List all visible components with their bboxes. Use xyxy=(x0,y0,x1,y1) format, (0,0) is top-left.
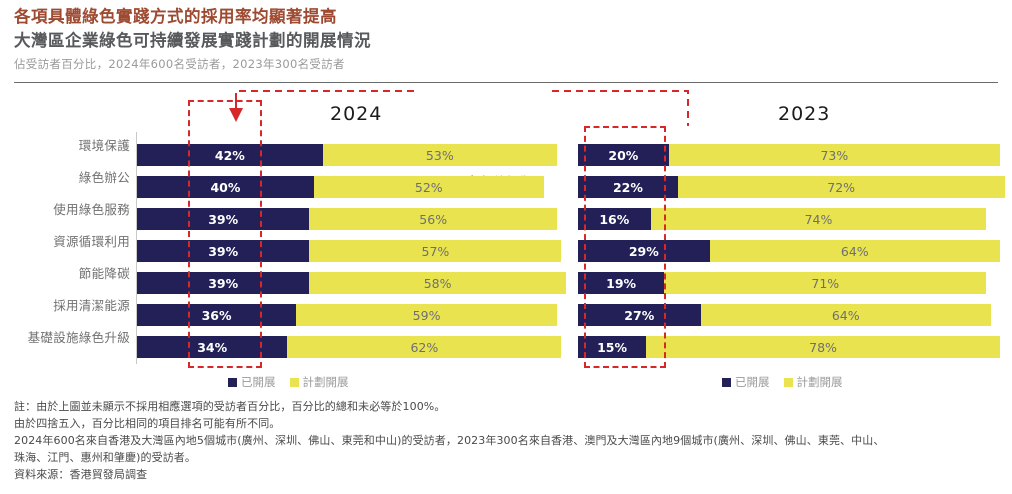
bar-value-plan: 71% xyxy=(811,276,839,291)
bar-row: 16%74% xyxy=(578,208,986,230)
bar-value-done: 19% xyxy=(606,276,636,291)
bar-value-plan: 62% xyxy=(410,340,438,355)
category-label: 綠色辦公 xyxy=(0,167,130,186)
bar-row: 34%62% xyxy=(137,336,561,358)
bar-value-plan: 64% xyxy=(841,244,869,259)
header: 各項具體綠色實踐方式的採用率均顯著提高 大灣區企業綠色可持續發展實踐計劃的開展情… xyxy=(14,6,998,72)
bar-segment-plan: 57% xyxy=(309,240,561,262)
bar-row: 20%73% xyxy=(578,144,1000,166)
bar-row: 36%59% xyxy=(137,304,557,326)
bar-segment-done: 15% xyxy=(578,336,646,358)
bar-value-done: 36% xyxy=(202,308,232,323)
bar-segment-done: 19% xyxy=(578,272,664,294)
bar-value-done: 34% xyxy=(197,340,227,355)
bar-row: 39%58% xyxy=(137,272,566,294)
year-heading-2023: 2023 xyxy=(778,103,830,125)
bar-row: 39%57% xyxy=(137,240,561,262)
legend-label-done: 已開展 xyxy=(241,374,276,390)
legend-label-plan: 計劃開展 xyxy=(797,374,843,390)
bar-segment-plan: 56% xyxy=(309,208,557,230)
legend-swatch-plan-icon xyxy=(784,378,793,387)
bar-segment-done: 39% xyxy=(137,208,309,230)
bar-value-plan: 64% xyxy=(832,308,860,323)
chart-body: 環境保護綠色辦公使用綠色服務資源循環利用節能降碳採用清潔能源基礎設施綠色升級 4… xyxy=(0,132,1012,370)
bar-segment-done: 22% xyxy=(578,176,678,198)
bar-row: 40%52% xyxy=(137,176,544,198)
bar-value-done: 42% xyxy=(215,148,245,163)
legend-2024: 已開展 計劃開展 xyxy=(228,374,349,390)
bar-value-plan: 53% xyxy=(426,148,454,163)
bar-value-done: 15% xyxy=(597,340,627,355)
bar-row: 27%64% xyxy=(578,304,991,326)
footnote-line: 2024年600名來自香港及大灣區內地5個城市(廣州、深圳、佛山、東莞和中山)的… xyxy=(14,432,1004,449)
bar-row: 42%53% xyxy=(137,144,557,166)
bar-segment-plan: 78% xyxy=(646,336,1000,358)
bar-segment-plan: 64% xyxy=(710,240,1000,262)
bar-value-done: 39% xyxy=(208,244,238,259)
bar-row: 22%72% xyxy=(578,176,1005,198)
footnote-line: 資料來源：香港貿發局調查 xyxy=(14,466,1004,483)
bar-value-plan: 72% xyxy=(827,180,855,195)
bar-segment-plan: 74% xyxy=(651,208,987,230)
legend-swatch-plan-icon xyxy=(290,378,299,387)
bar-row: 19%71% xyxy=(578,272,986,294)
bar-segment-done: 27% xyxy=(578,304,701,326)
bar-segment-done: 36% xyxy=(137,304,296,326)
legend-swatch-done-icon xyxy=(228,378,237,387)
bar-segment-plan: 64% xyxy=(701,304,991,326)
footnote-line: 珠海、江門、惠州和肇慶)的受訪者。 xyxy=(14,449,1004,466)
sample-note: 佔受訪者百分比，2024年600名受訪者，2023年300名受訪者 xyxy=(14,56,998,72)
bar-value-done: 39% xyxy=(208,276,238,291)
bar-segment-plan: 72% xyxy=(678,176,1005,198)
bar-segment-done: 42% xyxy=(137,144,323,166)
bar-segment-plan: 73% xyxy=(669,144,1000,166)
bar-value-done: 29% xyxy=(629,244,659,259)
category-label: 基礎設施綠色升級 xyxy=(0,327,130,346)
legend-item-plan: 計劃開展 xyxy=(784,374,843,390)
bar-value-plan: 73% xyxy=(820,148,848,163)
bar-value-plan: 59% xyxy=(413,308,441,323)
chart-page: 各項具體綠色實踐方式的採用率均顯著提高 大灣區企業綠色可持續發展實踐計劃的開展情… xyxy=(0,0,1012,494)
year-heading-2024: 2024 xyxy=(330,103,382,125)
bar-segment-done: 40% xyxy=(137,176,314,198)
bar-value-done: 20% xyxy=(608,148,638,163)
annotation-connector-svg xyxy=(0,86,1012,132)
page-subtitle: 大灣區企業綠色可持續發展實踐計劃的開展情況 xyxy=(14,30,998,52)
bar-value-plan: 58% xyxy=(424,276,452,291)
page-title: 各項具體綠色實踐方式的採用率均顯著提高 xyxy=(14,6,998,28)
bar-segment-plan: 59% xyxy=(296,304,557,326)
bar-value-plan: 74% xyxy=(805,212,833,227)
footnote-line: 註：由於上圖並未顯示不採用相應選項的受訪者百分比，百分比的總和未必等於100%。 xyxy=(14,398,1004,415)
legend-swatch-done-icon xyxy=(722,378,731,387)
bar-segment-done: 39% xyxy=(137,272,309,294)
category-label: 節能降碳 xyxy=(0,263,130,282)
category-label: 資源循環利用 xyxy=(0,231,130,250)
legend-item-done: 已開展 xyxy=(722,374,770,390)
bar-segment-plan: 62% xyxy=(287,336,561,358)
bar-segment-plan: 52% xyxy=(314,176,544,198)
bar-segment-done: 39% xyxy=(137,240,309,262)
bar-value-done: 40% xyxy=(210,180,240,195)
bar-row: 15%78% xyxy=(578,336,1000,358)
legend-item-done: 已開展 xyxy=(228,374,276,390)
footnotes: 註：由於上圖並未顯示不採用相應選項的受訪者百分比，百分比的總和未必等於100%。… xyxy=(14,398,1004,483)
bar-value-plan: 78% xyxy=(809,340,837,355)
bar-value-plan: 56% xyxy=(419,212,447,227)
bar-value-done: 16% xyxy=(599,212,629,227)
bar-value-plan: 57% xyxy=(422,244,450,259)
category-label: 環境保護 xyxy=(0,135,130,154)
footnote-line: 由於四捨五入，百分比相同的項目排名可能有所不同。 xyxy=(14,415,1004,432)
bar-segment-done: 16% xyxy=(578,208,651,230)
category-label: 採用清潔能源 xyxy=(0,295,130,314)
legend-2023: 已開展 計劃開展 xyxy=(722,374,843,390)
category-label: 使用綠色服務 xyxy=(0,199,130,218)
bar-segment-plan: 71% xyxy=(664,272,986,294)
bar-value-done: 27% xyxy=(624,308,654,323)
bar-value-done: 39% xyxy=(208,212,238,227)
bar-segment-done: 29% xyxy=(578,240,710,262)
annotation-layer: 開展率有所上升 xyxy=(0,86,1012,126)
legend-item-plan: 計劃開展 xyxy=(290,374,349,390)
bar-segment-done: 20% xyxy=(578,144,669,166)
header-divider xyxy=(14,82,998,83)
bar-segment-plan: 53% xyxy=(323,144,557,166)
legend-label-done: 已開展 xyxy=(735,374,770,390)
bar-row: 29%64% xyxy=(578,240,1000,262)
bar-segment-plan: 58% xyxy=(309,272,565,294)
bar-value-done: 22% xyxy=(613,180,643,195)
bar-segment-done: 34% xyxy=(137,336,287,358)
bar-row: 39%56% xyxy=(137,208,557,230)
legend-label-plan: 計劃開展 xyxy=(303,374,349,390)
bar-value-plan: 52% xyxy=(415,180,443,195)
